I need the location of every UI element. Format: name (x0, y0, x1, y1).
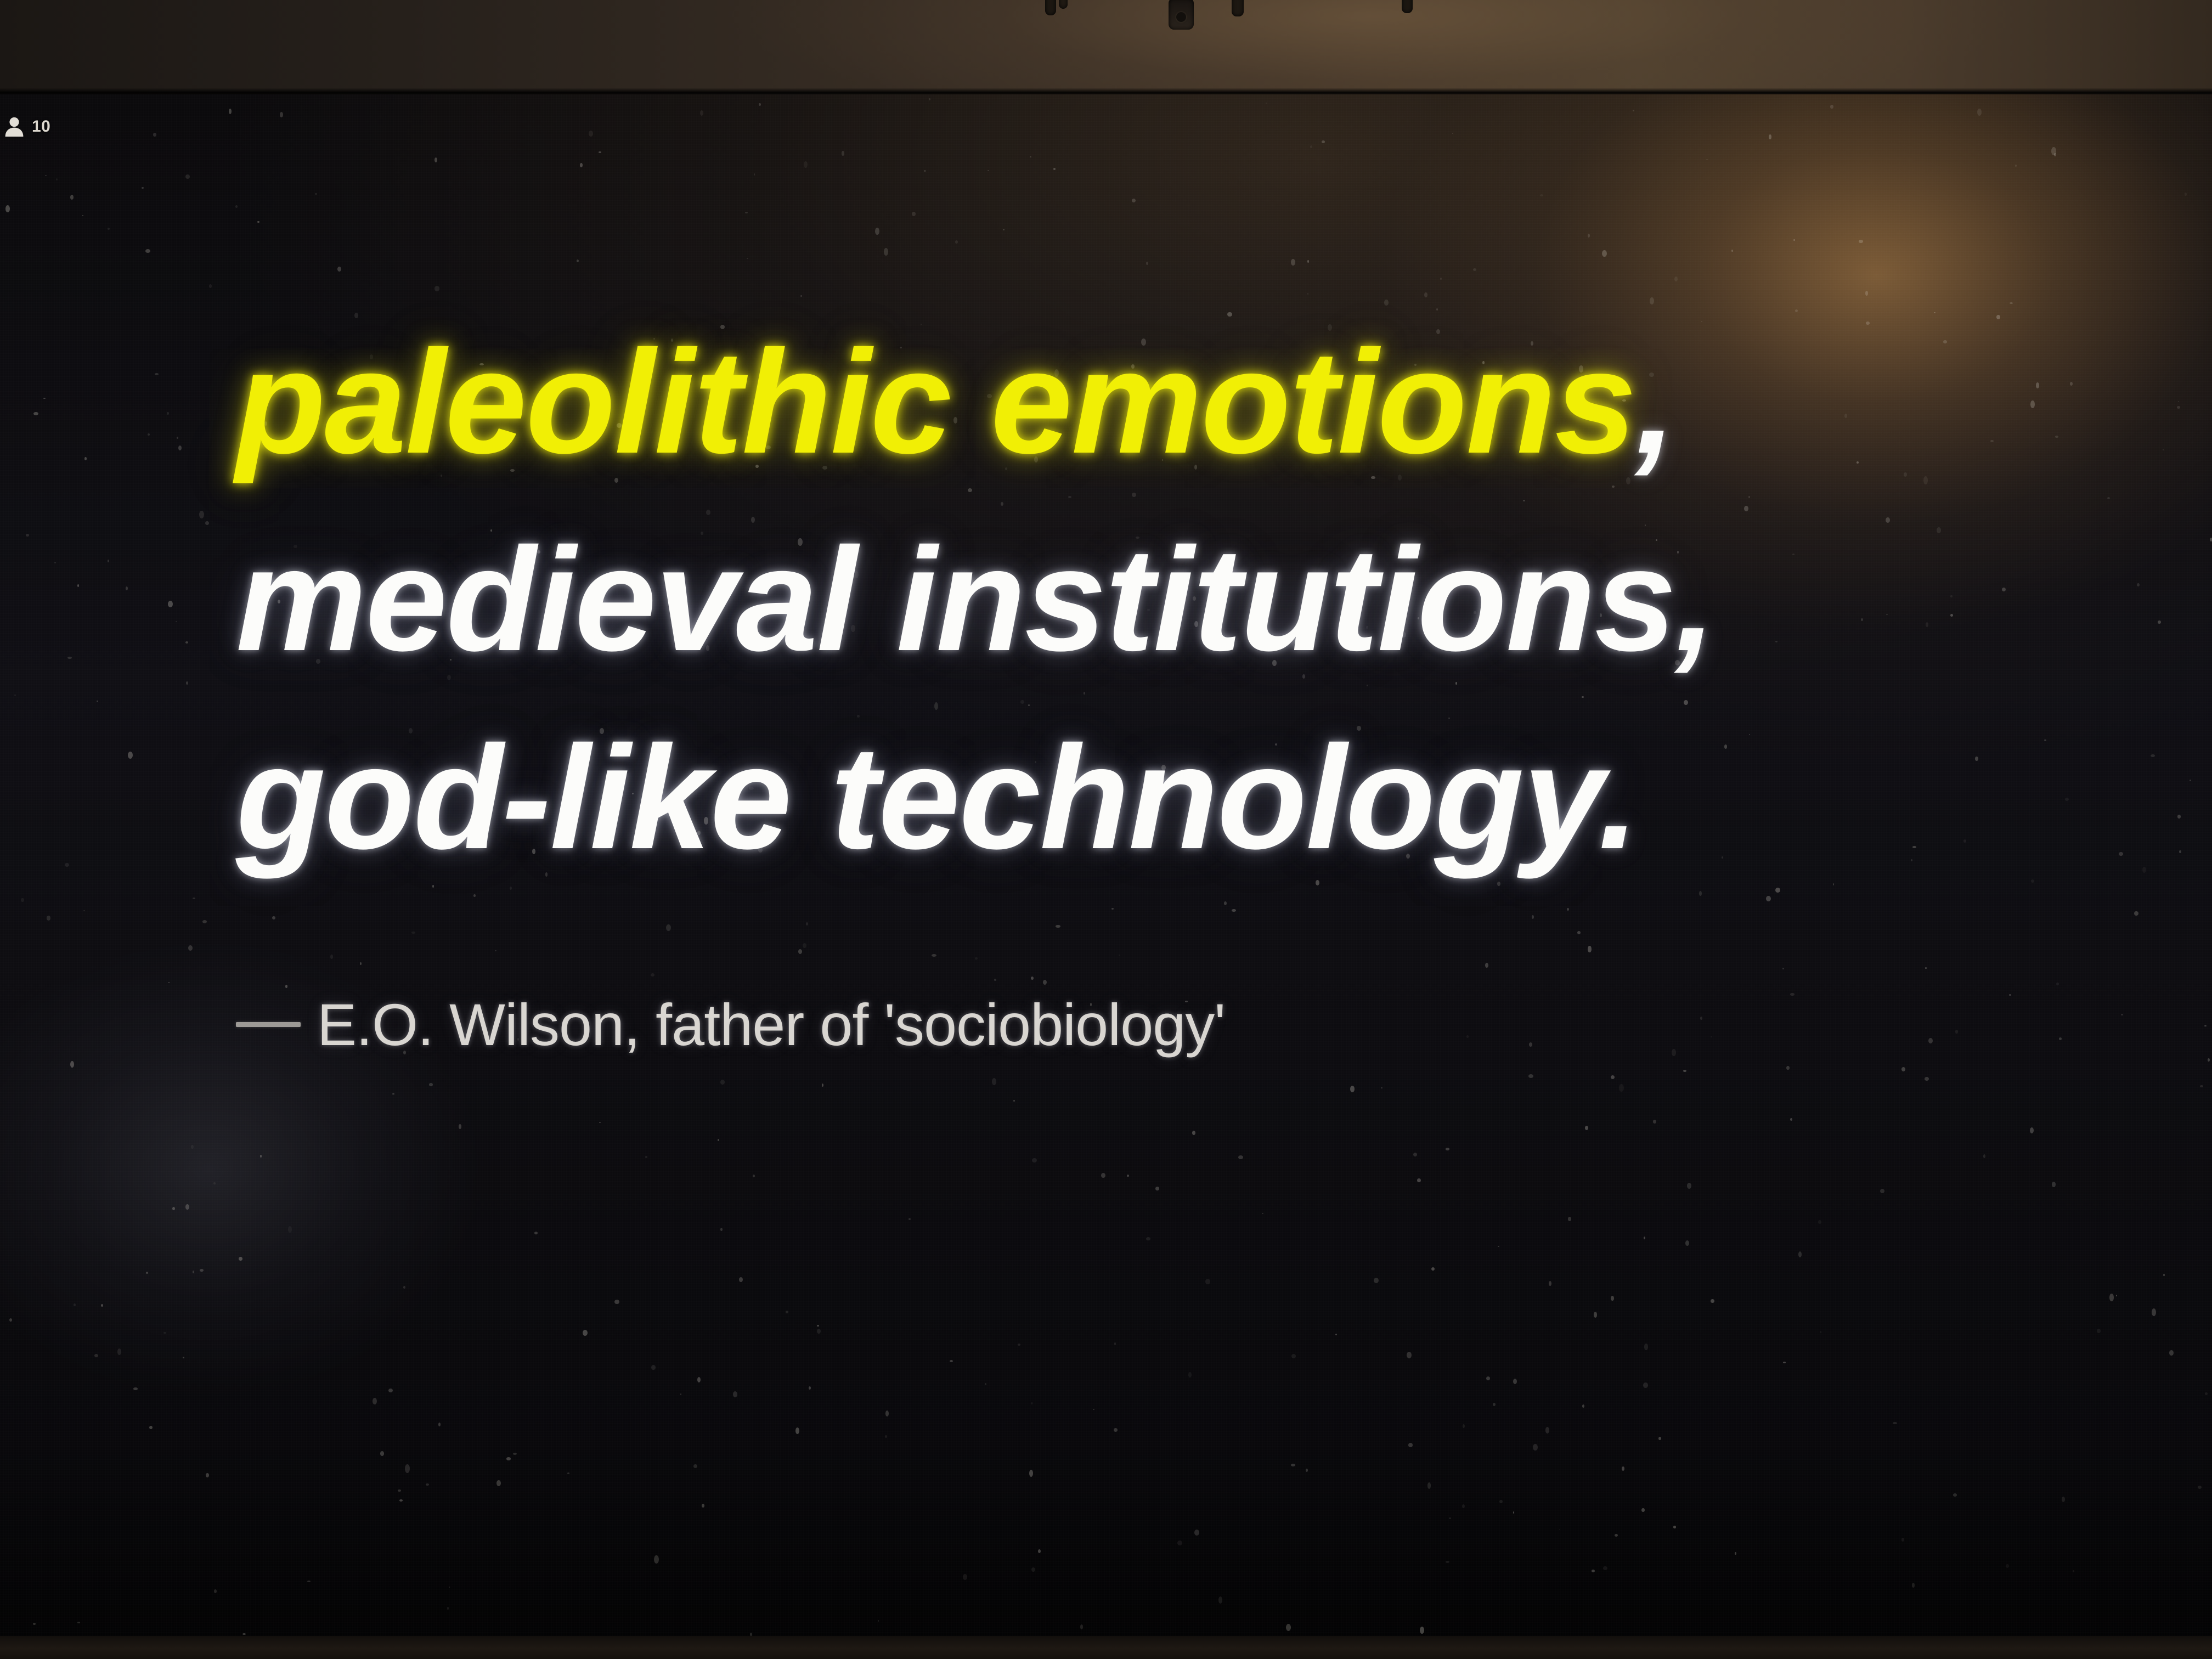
quote-attribution: E.O. Wilson, father of 'sociobiology' (236, 990, 2063, 1059)
quote-line-1-punctuation: , (1635, 319, 1675, 484)
bezel-sheen (0, 0, 2212, 94)
quote-line-2: medieval institutions, (236, 500, 2063, 698)
sensor-dot-left-2-icon (1059, 0, 1068, 9)
quote-line-1-text: paleolithic emotions (236, 319, 1635, 484)
webcam-icon (1169, 0, 1194, 30)
bezel-screen-edge (0, 88, 2212, 94)
quote-line-3-punctuation: . (1598, 715, 1638, 879)
quote-line-3-text: god-like technology (236, 715, 1598, 879)
quote-line-2-text: medieval institutions (236, 517, 1675, 681)
laptop-screen-photo: 10 paleolithic emotions, medieval instit… (0, 0, 2212, 1659)
attribution-label: E.O. Wilson, father of 'sociobiology' (317, 990, 1225, 1059)
quote-line-2-punctuation: , (1675, 517, 1715, 681)
laptop-top-bezel (0, 0, 2212, 94)
screen-surface: 10 paleolithic emotions, medieval instit… (0, 94, 2212, 1636)
slide-content: paleolithic emotions, medieval instituti… (236, 303, 2063, 1059)
viewer-count-label: 10 (32, 117, 50, 136)
indicator-dot-icon (1402, 0, 1413, 13)
viewer-count-badge[interactable]: 10 (4, 116, 50, 137)
quote-line-1: paleolithic emotions, (236, 303, 2063, 500)
quote-line-3: god-like technology. (236, 698, 2063, 896)
quote-block: paleolithic emotions, medieval instituti… (236, 303, 2063, 896)
person-icon (4, 116, 24, 137)
mic-dot-icon (1232, 0, 1244, 16)
sensor-dot-left-icon (1045, 0, 1056, 15)
laptop-bottom-bezel (0, 1636, 2212, 1659)
em-dash-icon (236, 1022, 301, 1027)
